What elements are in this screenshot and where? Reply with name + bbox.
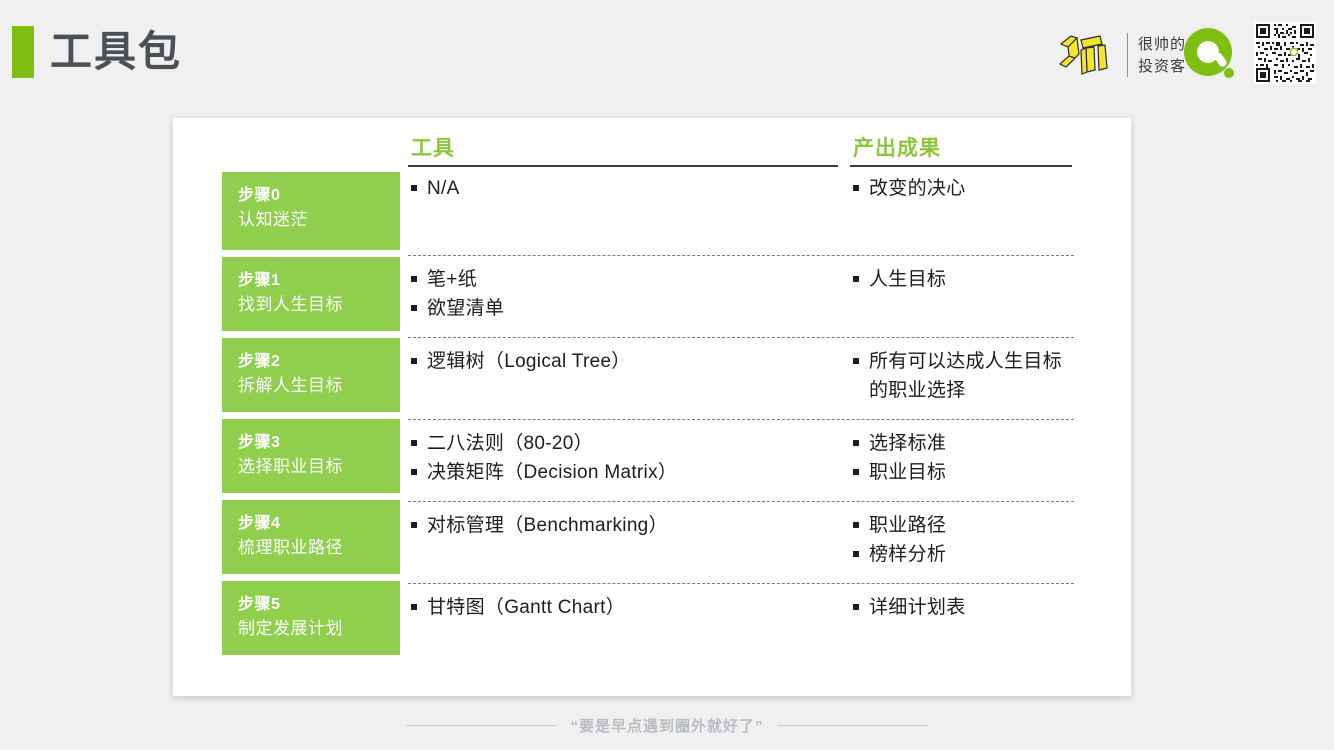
content-card: 工具 产出成果 步骤0 认知迷茫 步骤1 找到人生目标 步骤2 拆解人生目标 步…: [173, 118, 1131, 696]
bullet-icon: [411, 604, 417, 610]
step-name: 认知迷茫: [238, 207, 400, 232]
list-item-label: 二八法则（80-20）: [427, 429, 850, 458]
footer-rule-left: [406, 725, 556, 726]
list-item: 欲望清单: [408, 294, 850, 323]
step-number: 步骤1: [238, 269, 400, 292]
cell-tools: 笔+纸 欲望清单: [408, 265, 850, 323]
list-item: 职业目标: [850, 458, 1074, 487]
bullet-icon: [411, 440, 417, 446]
shuai-character-logo-icon: [1055, 30, 1117, 80]
page-title: 工具包: [50, 24, 182, 80]
list-item: 逻辑树（Logical Tree）: [408, 347, 850, 376]
column-header-output: 产出成果: [853, 136, 941, 162]
step-box[interactable]: 步骤3 选择职业目标: [222, 419, 400, 493]
cell-tools: 对标管理（Benchmarking）: [408, 511, 850, 540]
list-item-label: 所有可以达成人生目标的职业选择: [869, 347, 1074, 405]
column-rule-output: [850, 165, 1072, 167]
step-number: 步骤5: [238, 593, 400, 616]
list-item: 所有可以达成人生目标的职业选择: [850, 347, 1074, 405]
brand-block: 很帅的 投资客: [1055, 26, 1186, 84]
list-item-label: 详细计划表: [869, 593, 1074, 622]
cell-output: 职业路径 榜样分析: [850, 511, 1074, 569]
list-item: 职业路径: [850, 511, 1074, 540]
list-item: 改变的决心: [850, 174, 1074, 203]
table-row: 甘特图（Gantt Chart） 详细计划表: [408, 583, 1074, 663]
cell-output: 所有可以达成人生目标的职业选择: [850, 347, 1074, 405]
cell-tools: 二八法则（80-20） 决策矩阵（Decision Matrix）: [408, 429, 850, 487]
list-item: 人生目标: [850, 265, 1074, 294]
bullet-icon: [853, 276, 859, 282]
list-item-label: 职业路径: [869, 511, 1074, 540]
list-item: 对标管理（Benchmarking）: [408, 511, 850, 540]
list-item: N/A: [408, 174, 850, 203]
step-name: 拆解人生目标: [238, 373, 400, 398]
step-name: 选择职业目标: [238, 454, 400, 479]
brand-text: 很帅的 投资客: [1138, 35, 1186, 76]
step-box[interactable]: 步骤4 梳理职业路径: [222, 500, 400, 574]
step-box[interactable]: 步骤5 制定发展计划: [222, 581, 400, 655]
cell-output: 选择标准 职业目标: [850, 429, 1074, 487]
bullet-icon: [853, 440, 859, 446]
brand-line-1: 很帅的: [1138, 35, 1186, 54]
bullet-icon: [411, 305, 417, 311]
list-item-label: 逻辑树（Logical Tree）: [427, 347, 850, 376]
step-box[interactable]: 步骤0 认知迷茫: [222, 172, 400, 250]
bullet-icon: [853, 604, 859, 610]
q-circle-logo-icon: [1182, 26, 1238, 82]
list-item-label: 选择标准: [869, 429, 1074, 458]
cell-output: 人生目标: [850, 265, 1074, 294]
list-item-label: 决策矩阵（Decision Matrix）: [427, 458, 850, 487]
cell-output: 详细计划表: [850, 593, 1074, 622]
step-name: 制定发展计划: [238, 616, 400, 641]
cell-output: 改变的决心: [850, 174, 1074, 203]
list-item: 详细计划表: [850, 593, 1074, 622]
column-rule-tools: [408, 165, 838, 167]
step-name: 找到人生目标: [238, 292, 400, 317]
bullet-icon: [853, 469, 859, 475]
footer-tagline: “要是早点遇到圈外就好了”: [570, 715, 763, 736]
step-number: 步骤0: [238, 184, 400, 207]
list-item-label: 人生目标: [869, 265, 1074, 294]
list-item: 榜样分析: [850, 540, 1074, 569]
list-item: 选择标准: [850, 429, 1074, 458]
step-box[interactable]: 步骤2 拆解人生目标: [222, 338, 400, 412]
step-number: 步骤2: [238, 350, 400, 373]
table-body: N/A 改变的决心 笔+纸: [408, 168, 1074, 663]
bullet-icon: [411, 185, 417, 191]
page-header: 工具包 很帅的 投资客: [0, 0, 1334, 108]
list-item: 决策矩阵（Decision Matrix）: [408, 458, 850, 487]
footer-rule-right: [778, 725, 928, 726]
bullet-icon: [853, 551, 859, 557]
cell-tools: 逻辑树（Logical Tree）: [408, 347, 850, 376]
list-item-label: 笔+纸: [427, 265, 850, 294]
bullet-icon: [411, 522, 417, 528]
qr-code-icon: [1254, 22, 1316, 84]
table-row: 逻辑树（Logical Tree） 所有可以达成人生目标的职业选择: [408, 337, 1074, 419]
table-row: 二八法则（80-20） 决策矩阵（Decision Matrix） 选择标准 职…: [408, 419, 1074, 501]
bullet-icon: [411, 276, 417, 282]
bullet-icon: [853, 522, 859, 528]
bullet-icon: [411, 358, 417, 364]
table-row: 对标管理（Benchmarking） 职业路径 榜样分析: [408, 501, 1074, 583]
bullet-icon: [853, 185, 859, 191]
bullet-icon: [411, 469, 417, 475]
list-item: 笔+纸: [408, 265, 850, 294]
title-accent-bar: [12, 26, 34, 78]
steps-column: 步骤0 认知迷茫 步骤1 找到人生目标 步骤2 拆解人生目标 步骤3 选择职业目…: [222, 172, 400, 662]
step-box[interactable]: 步骤1 找到人生目标: [222, 257, 400, 331]
column-header-tools: 工具: [411, 136, 455, 162]
bullet-icon: [853, 358, 859, 364]
brand-line-2: 投资客: [1138, 57, 1186, 76]
list-item-label: 欲望清单: [427, 294, 850, 323]
list-item-label: 职业目标: [869, 458, 1074, 487]
step-number: 步骤4: [238, 512, 400, 535]
list-item: 甘特图（Gantt Chart）: [408, 593, 850, 622]
table-row: 笔+纸 欲望清单 人生目标: [408, 255, 1074, 337]
list-item-label: 甘特图（Gantt Chart）: [427, 593, 850, 622]
brand-divider: [1127, 33, 1128, 77]
table-row: N/A 改变的决心: [408, 168, 1074, 255]
list-item-label: 改变的决心: [869, 174, 1074, 203]
list-item: 二八法则（80-20）: [408, 429, 850, 458]
list-item-label: 榜样分析: [869, 540, 1074, 569]
step-number: 步骤3: [238, 431, 400, 454]
cell-tools: 甘特图（Gantt Chart）: [408, 593, 850, 622]
list-item-label: 对标管理（Benchmarking）: [427, 511, 850, 540]
list-item-label: N/A: [427, 174, 850, 203]
step-name: 梳理职业路径: [238, 535, 400, 560]
page-footer: “要是早点遇到圈外就好了”: [0, 715, 1334, 736]
cell-tools: N/A: [408, 174, 850, 203]
